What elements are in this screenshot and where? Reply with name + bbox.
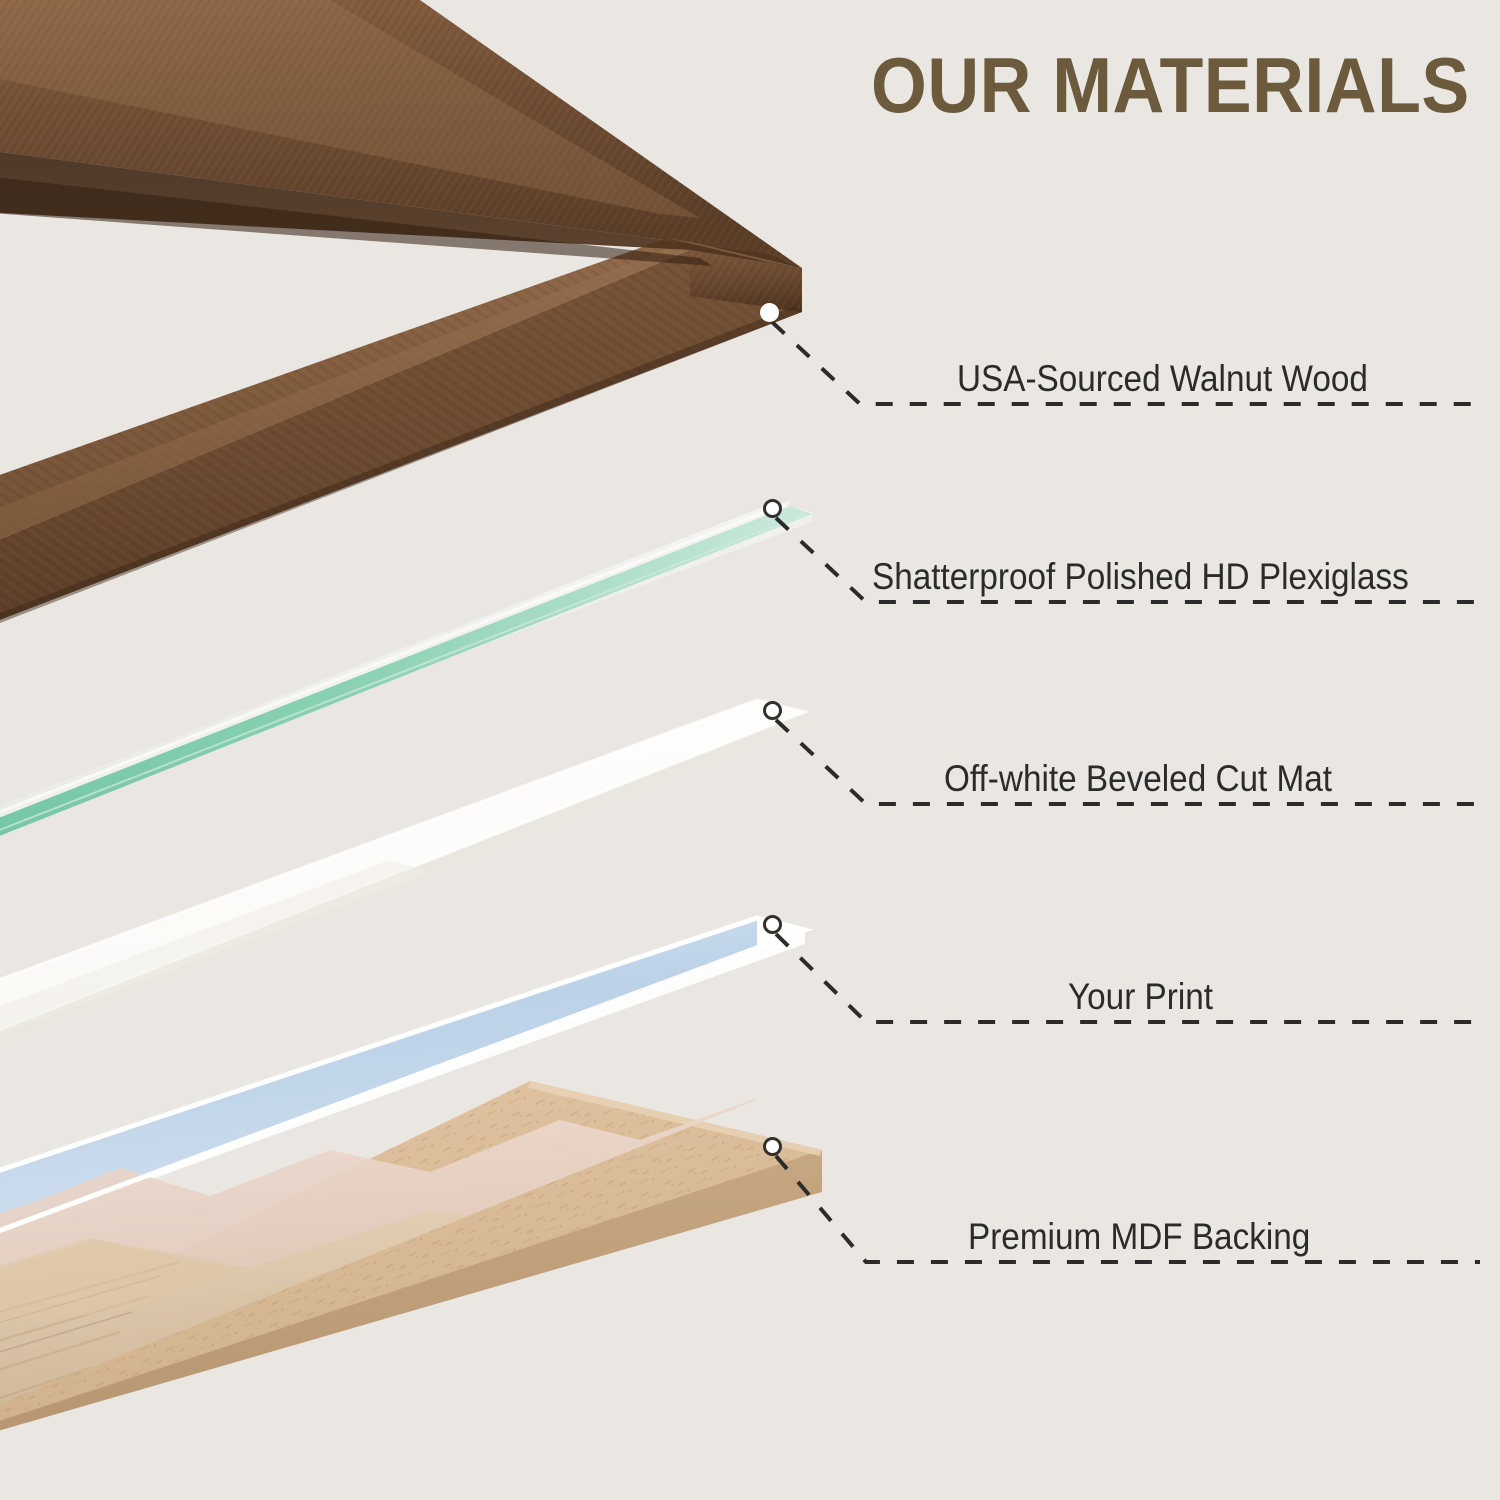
callout-marker-mdf-backing[interactable] xyxy=(763,1137,782,1156)
callout-marker-cut-mat[interactable] xyxy=(763,701,782,720)
callout-marker-your-print[interactable] xyxy=(763,915,782,934)
infographic-canvas: OUR MATERIALS USA-Sourced Walnut Wood Sh… xyxy=(0,0,1500,1500)
callout-marker-walnut-wood[interactable] xyxy=(760,303,779,322)
callout-label-plexiglass: Shatterproof Polished HD Plexiglass xyxy=(872,558,1409,595)
callout-marker-plexiglass[interactable] xyxy=(763,499,782,518)
callout-label-walnut-wood: USA-Sourced Walnut Wood xyxy=(957,360,1368,397)
callout-leader-lines xyxy=(0,0,1500,1500)
callout-label-cut-mat: Off-white Beveled Cut Mat xyxy=(944,760,1332,797)
callout-label-your-print: Your Print xyxy=(1068,978,1213,1015)
callout-label-mdf-backing: Premium MDF Backing xyxy=(968,1218,1310,1255)
